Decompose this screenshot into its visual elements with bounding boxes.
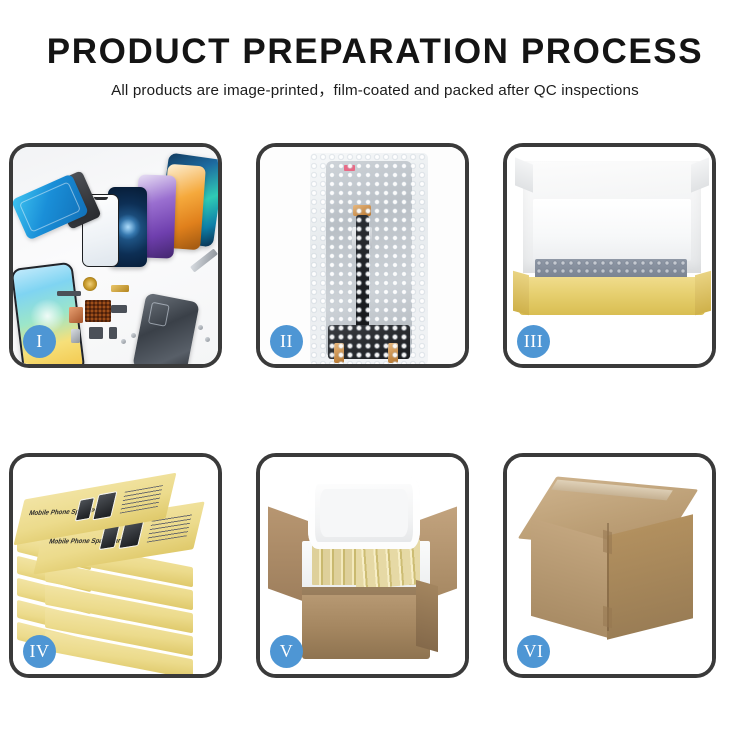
styrofoam-lid-icon [308, 477, 420, 549]
carton-front-panel-icon [302, 587, 430, 659]
pink-label-icon [344, 165, 355, 171]
ic-chip-part-icon [111, 305, 127, 313]
process-step-panel-2[interactable]: II [256, 143, 469, 368]
process-step-grid: I II [9, 143, 741, 678]
carton-left-face-icon [531, 518, 609, 638]
carton-side-panel-icon [416, 580, 438, 652]
yellow-box-tray-icon [519, 277, 705, 315]
tape-tab-lower-icon [603, 606, 612, 629]
tweezers-tool-icon [190, 249, 218, 273]
box-spec-lines-icon [120, 485, 163, 514]
step-badge-2: II [270, 325, 303, 358]
screw-part-icon [198, 325, 203, 330]
screw-part-icon [131, 333, 136, 338]
gold-flex-part-icon [111, 285, 129, 292]
flex-strip-part-icon [57, 291, 81, 296]
driver-ic-icon [352, 227, 372, 249]
phone-backplate-icon [132, 293, 200, 364]
button-part-icon [109, 327, 117, 339]
gold-tab-left-icon [334, 343, 344, 363]
screw-part-icon [205, 337, 210, 342]
step-badge-3: III [517, 325, 550, 358]
connector-pad-part-icon [85, 300, 111, 322]
flex-cable-icon [356, 215, 369, 333]
white-foam-sheet-icon [533, 199, 691, 261]
step-badge-1: I [23, 325, 56, 358]
product-preparation-infographic: PRODUCT PREPARATION PROCESS All products… [0, 0, 750, 750]
box-window-icon [92, 491, 117, 520]
process-step-panel-1[interactable]: I [9, 143, 222, 368]
page-subtitle: All products are image-printed，film-coat… [0, 81, 750, 101]
process-step-panel-4[interactable]: Mobile Phone Spare Parts Mobile Phone Sp… [9, 453, 222, 678]
process-step-panel-5[interactable]: V [256, 453, 469, 678]
screw-part-icon [121, 339, 126, 344]
carton-right-face-icon [607, 514, 693, 639]
process-step-panel-6[interactable]: VI [503, 453, 716, 678]
speaker-coil-part-icon [83, 277, 97, 291]
bubble-wrap-bag-icon [310, 153, 428, 364]
step-badge-5: V [270, 635, 303, 668]
sim-tray-part-icon [71, 329, 80, 343]
connector-icon [353, 205, 371, 216]
step-badge-4: IV [23, 635, 56, 668]
tape-tab-upper-icon [603, 530, 612, 555]
header: PRODUCT PREPARATION PROCESS All products… [0, 32, 750, 101]
gold-tab-right-icon [388, 343, 398, 363]
process-step-panel-3[interactable]: III [503, 143, 716, 368]
step-badge-6: VI [517, 635, 550, 668]
page-title: PRODUCT PREPARATION PROCESS [0, 32, 750, 72]
lcd-bottom-edge-icon [328, 325, 410, 359]
lcd-screen-icon [326, 161, 412, 357]
camera-module-part-icon [89, 327, 103, 339]
copper-flex-part-icon [69, 307, 83, 323]
